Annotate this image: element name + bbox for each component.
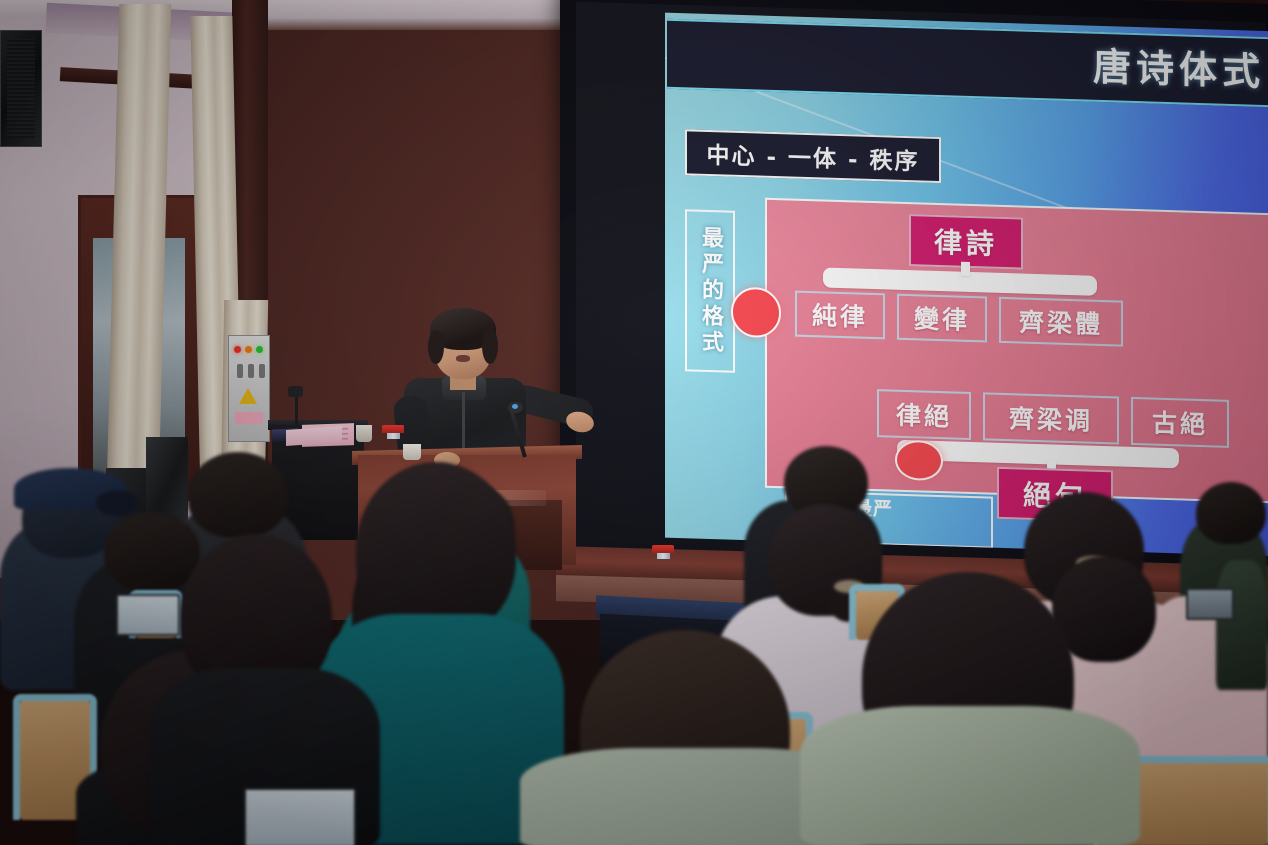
- bottle-cap: [652, 545, 674, 553]
- panel-label-sticker: [235, 412, 263, 424]
- node-top-child-1: 變律: [897, 294, 987, 343]
- node-bottom-child-2: 古絕: [1131, 397, 1229, 448]
- node-bottom-child-0: 律絕: [877, 389, 971, 440]
- marker-dot-top: [731, 287, 781, 339]
- lecture-hall-scene: 唐诗体式 中心 - 一体 - 秩序 最严的格式 律詩 純律 變律 齊梁體 律絕 …: [0, 0, 1268, 845]
- indicator-led-green: [256, 346, 263, 353]
- bottle-on-stage-table: [652, 545, 674, 559]
- indicator-led-red: [234, 346, 241, 353]
- bottle-cap: [382, 425, 404, 433]
- node-bottom-child-1: 齊梁调: [983, 392, 1119, 444]
- laptop-screen-1[interactable]: [116, 594, 180, 636]
- presentation-slide: 唐诗体式 中心 - 一体 - 秩序 最严的格式 律詩 純律 變律 齊梁體 律絕 …: [665, 13, 1268, 557]
- laptop-screen-2[interactable]: [244, 788, 356, 845]
- cup-on-podium: [403, 444, 421, 460]
- slide-vertical-label-box: 最严的格式: [685, 209, 735, 373]
- presenter-hair-side-left: [428, 330, 444, 364]
- node-top-child-2: 齊梁體: [999, 297, 1123, 347]
- marker-dot-bottom: [895, 440, 943, 481]
- desk-mic-stem: [295, 392, 298, 426]
- toggle-switch-3[interactable]: [259, 364, 265, 378]
- presenter-hair-side-right: [482, 328, 498, 364]
- slide-subtitle: 中心 - 一体 - 秩序: [706, 136, 919, 177]
- cup-on-side-table: [356, 425, 372, 442]
- indicator-led-orange: [245, 346, 252, 353]
- slide-title: 唐诗体式: [1093, 36, 1265, 96]
- desk-mic-head-icon: [288, 386, 303, 397]
- brace-top-stem: [961, 262, 970, 276]
- warning-triangle-icon: [239, 388, 257, 404]
- wall-speaker: [0, 30, 42, 147]
- slide-subtitle-box: 中心 - 一体 - 秩序: [685, 129, 941, 183]
- bottle-neck: [657, 553, 670, 559]
- floor-speaker-a: [146, 437, 188, 523]
- podium-mic-indicator: [512, 404, 518, 409]
- laptop-screen-3[interactable]: [1186, 588, 1234, 620]
- bottle-neck: [387, 433, 400, 439]
- toggle-switch-1[interactable]: [237, 364, 243, 378]
- node-top-child-0: 純律: [795, 291, 885, 340]
- av-control-panel[interactable]: [228, 335, 270, 442]
- presenter-mouth: [456, 355, 470, 362]
- bottle-on-podium: [382, 425, 404, 439]
- slide-vertical-label: 最严的格式: [694, 226, 726, 357]
- toggle-switch-2[interactable]: [248, 364, 254, 378]
